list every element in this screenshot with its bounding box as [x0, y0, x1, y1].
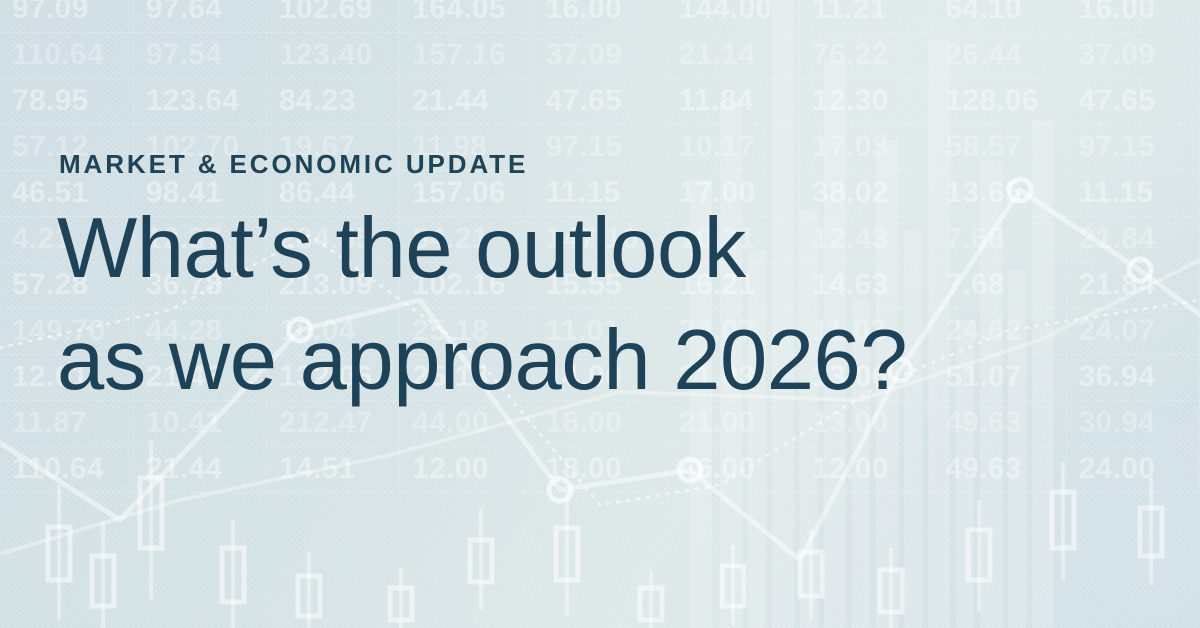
- candle-wick: [231, 520, 235, 628]
- candle-wick: [1149, 478, 1153, 585]
- candle-wick: [57, 485, 61, 620]
- candle-wick: [889, 548, 893, 628]
- banner-content: MARKET & ECONOMIC UPDATE What’s the outl…: [57, 150, 1147, 417]
- candle-wick: [101, 522, 105, 628]
- headline-line-1: What’s the outlook: [57, 193, 1147, 305]
- candle-wick: [479, 508, 483, 610]
- page-title: What’s the outlook as we approach 2026?: [57, 193, 1147, 417]
- candle-wick: [977, 500, 981, 612]
- eyebrow-label: MARKET & ECONOMIC UPDATE: [59, 150, 1147, 179]
- candle-wick: [149, 440, 153, 600]
- market-update-banner: 97.0997.64102.69164.0516.00144.0011.2164…: [0, 0, 1200, 628]
- headline-line-2: as we approach 2026?: [57, 305, 1147, 417]
- candle-wick: [565, 490, 569, 615]
- candle-wick: [1061, 462, 1065, 580]
- candle-wick: [731, 545, 735, 625]
